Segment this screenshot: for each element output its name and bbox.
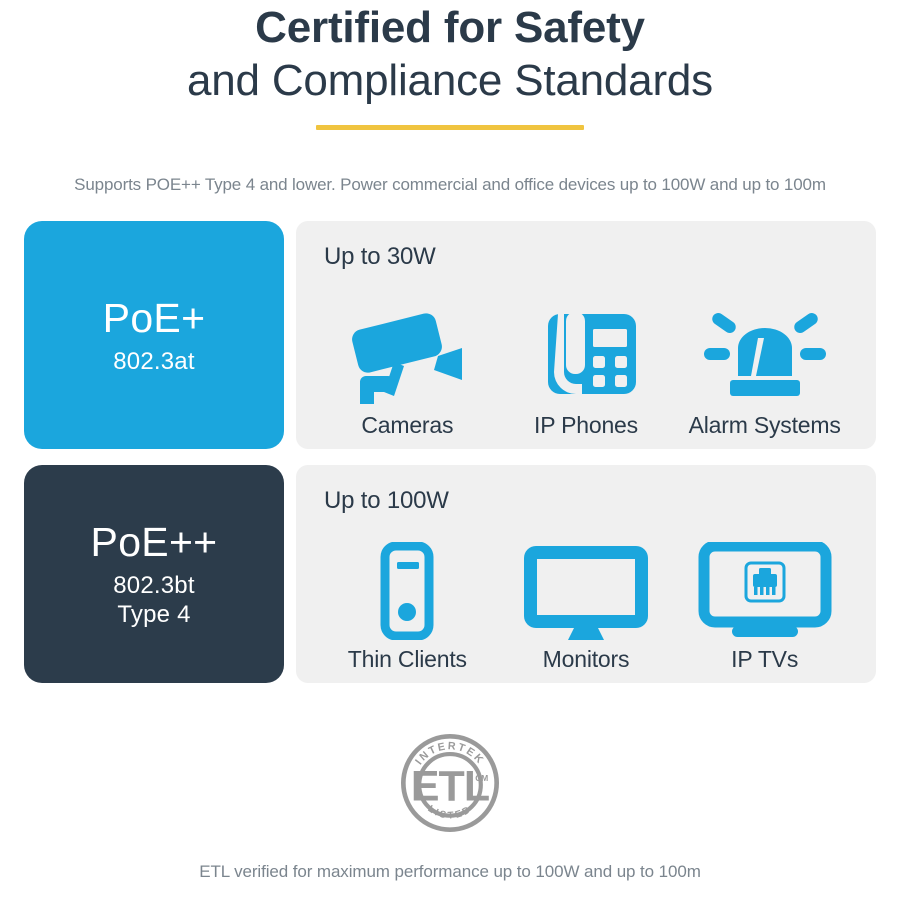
badge-card-poe-plusplus: PoE++ 802.3bt Type 4 — [24, 465, 284, 683]
device-item-alarm-systems: Alarm Systems — [675, 302, 854, 439]
ip-tv-icon — [698, 542, 832, 640]
panel-heading: Up to 100W — [324, 487, 858, 515]
badge-card-poe-plus: PoE+ 802.3at — [24, 221, 284, 449]
ip-phone-icon — [536, 302, 636, 406]
badge-title: PoE+ — [103, 295, 206, 341]
device-label: IP TVs — [731, 646, 798, 673]
security-camera-icon — [342, 302, 472, 406]
badge-type: Type 4 — [117, 600, 190, 629]
badge-standard: 802.3bt — [113, 571, 194, 600]
device-label: Cameras — [361, 412, 453, 439]
device-item-thin-clients: Thin Clients — [318, 542, 497, 673]
thin-client-icon — [377, 542, 437, 640]
badge-standard: 802.3at — [113, 347, 194, 376]
gold-divider — [316, 125, 584, 130]
device-label: Thin Clients — [348, 646, 467, 673]
device-label: Alarm Systems — [689, 412, 841, 439]
etl-listed-intertek-logo: INTERTEK LISTED ETL CM — [394, 727, 506, 844]
panel-up-to-30w: Up to 30W Cameras — [296, 221, 876, 449]
svg-text:ETL: ETL — [411, 763, 489, 811]
header: Certified for Safety and Compliance Stan… — [0, 0, 900, 130]
certification-section: INTERTEK LISTED ETL CM ETL verified for … — [0, 727, 900, 882]
page-title-line-2: and Compliance Standards — [0, 54, 900, 108]
device-item-ip-tvs: IP TVs — [675, 542, 854, 673]
device-item-ip-phones: IP Phones — [497, 302, 676, 439]
device-label: Monitors — [543, 646, 630, 673]
subtitle: Supports POE++ Type 4 and lower. Power c… — [0, 175, 900, 195]
badge-title: PoE++ — [91, 519, 218, 565]
panel-items: Thin Clients Monitors — [314, 515, 858, 673]
poe-certification-infographic: Certified for Safety and Compliance Stan… — [0, 0, 900, 900]
page-title-line-1: Certified for Safety — [0, 2, 900, 54]
panel-up-to-100w: Up to 100W Thin Clients — [296, 465, 876, 683]
alarm-siren-icon — [702, 302, 828, 406]
panel-heading: Up to 30W — [324, 243, 858, 271]
svg-text:CM: CM — [475, 773, 488, 783]
panel-items: Cameras — [314, 271, 858, 439]
monitor-icon — [520, 542, 652, 640]
poe-plus-row: PoE+ 802.3at Up to 30W — [24, 221, 876, 449]
device-item-monitors: Monitors — [497, 542, 676, 673]
device-item-cameras: Cameras — [318, 302, 497, 439]
device-label: IP Phones — [534, 412, 638, 439]
poe-plusplus-row: PoE++ 802.3bt Type 4 Up to 100W Thin Cli… — [24, 465, 876, 683]
certification-caption: ETL verified for maximum performance up … — [199, 862, 701, 882]
